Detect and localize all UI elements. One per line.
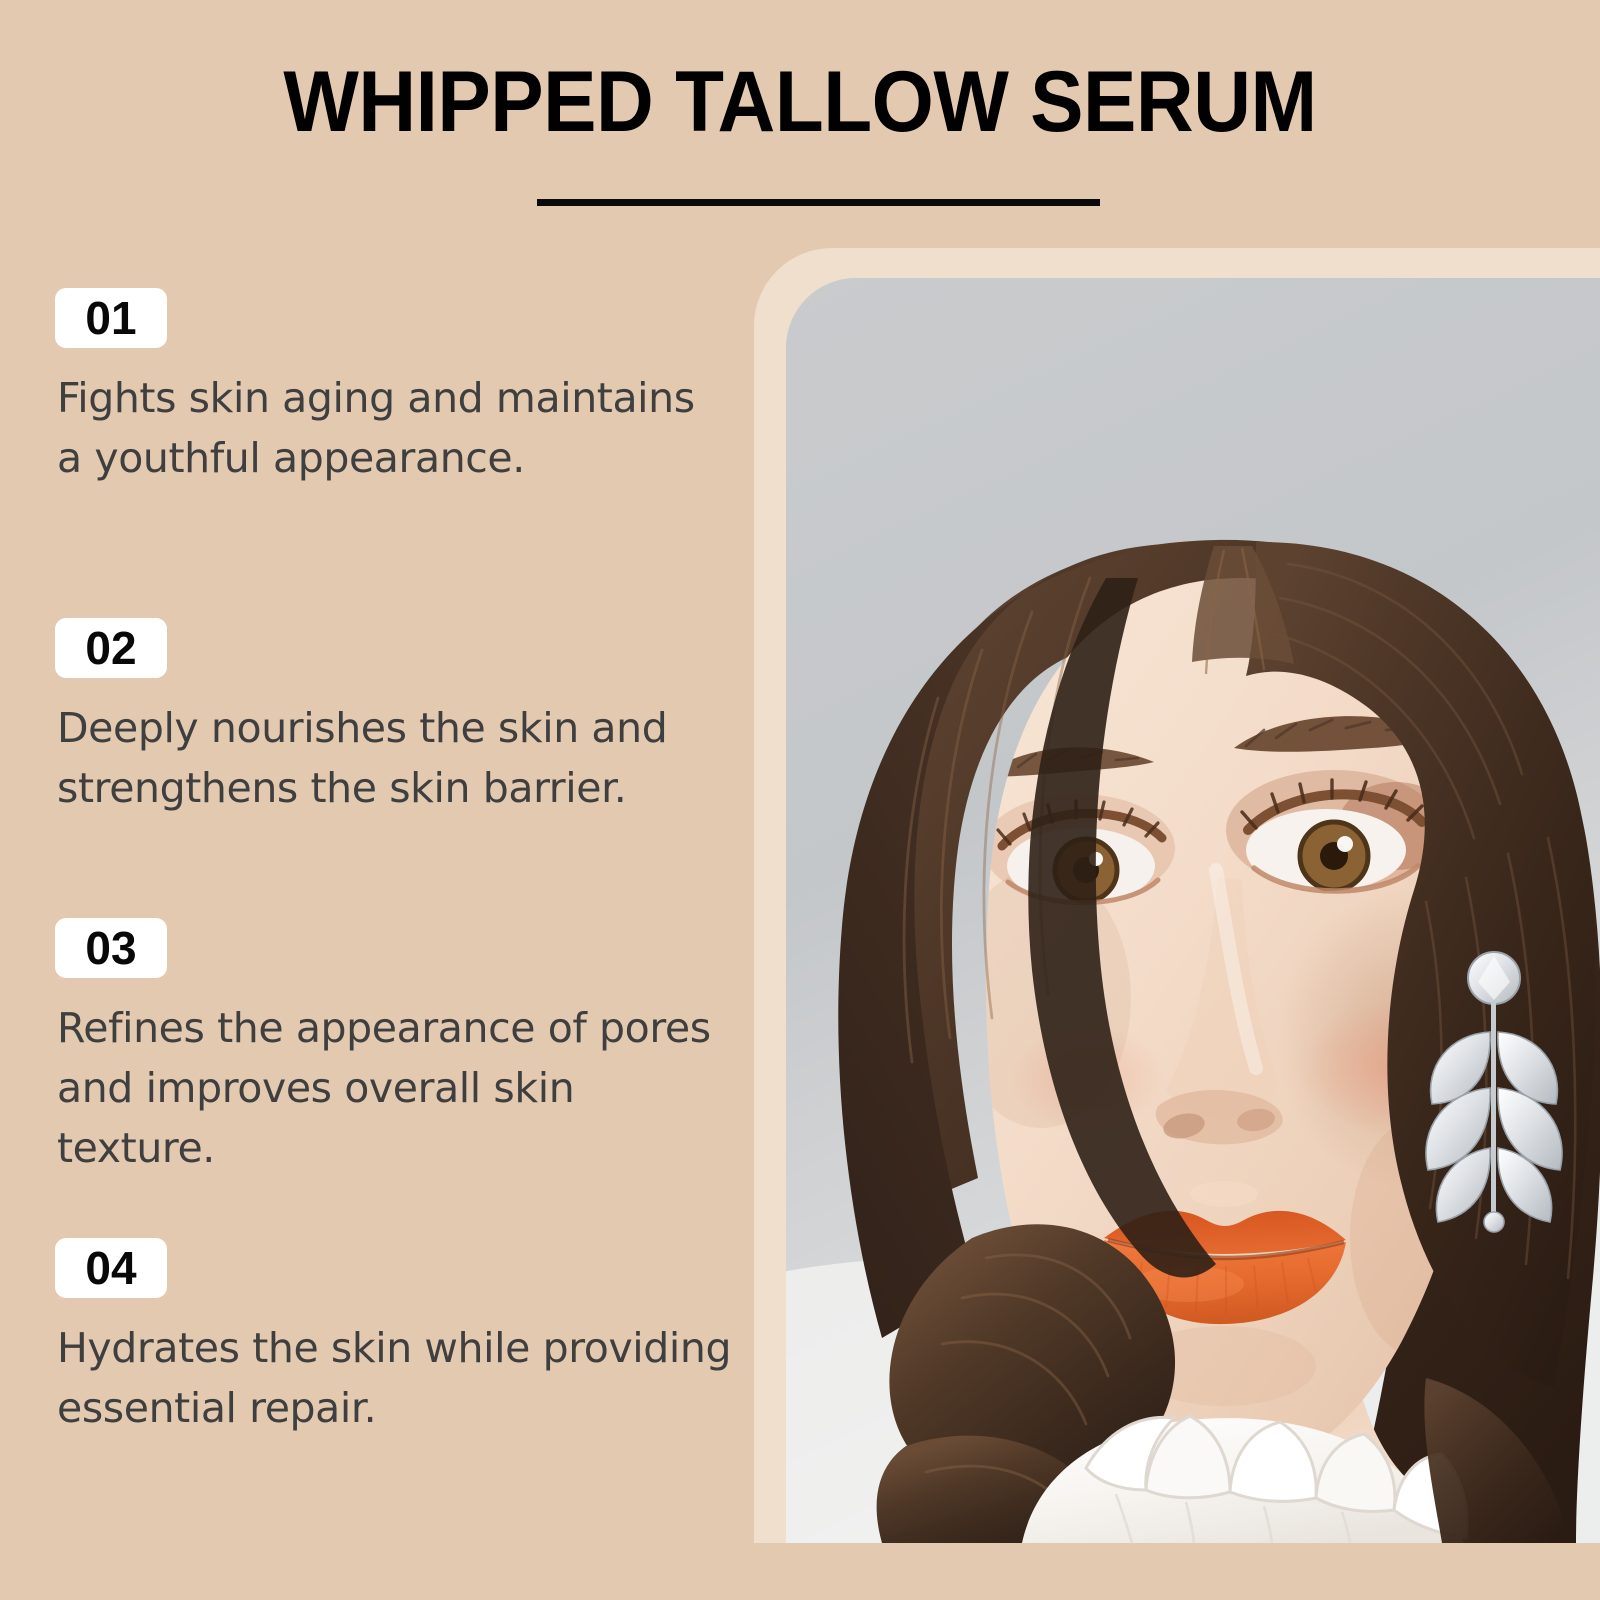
benefit-description: Hydrates the skin while providing essent…: [57, 1318, 747, 1438]
benefit-description: Fights skin aging and maintains a youthf…: [57, 368, 717, 488]
woman-portrait-illustration: [786, 278, 1600, 1543]
benefit-number-badge: 04: [55, 1238, 167, 1298]
benefit-description: Deeply nourishes the skin and strengthen…: [57, 698, 747, 818]
list-item: 04 Hydrates the skin while providing ess…: [0, 1238, 720, 1438]
title-divider: [537, 199, 1100, 206]
page-title: WHIPPED TALLOW SERUM: [56, 52, 1544, 152]
benefits-list: 01 Fights skin aging and maintains a you…: [0, 288, 740, 1568]
list-item: 01 Fights skin aging and maintains a you…: [0, 288, 720, 488]
benefit-number: 03: [55, 918, 167, 978]
model-photo: [786, 278, 1600, 1543]
benefit-number: 04: [55, 1238, 167, 1298]
list-item: 02 Deeply nourishes the skin and strengt…: [0, 618, 720, 818]
benefit-number-badge: 01: [55, 288, 167, 348]
benefit-number: 02: [55, 618, 167, 678]
poster-canvas: WHIPPED TALLOW SERUM 01 Fights skin agin…: [0, 0, 1600, 1600]
benefit-number-badge: 02: [55, 618, 167, 678]
benefit-number: 01: [55, 288, 167, 348]
list-item: 03 Refines the appearance of pores and i…: [0, 918, 720, 1178]
header: WHIPPED TALLOW SERUM: [0, 0, 1600, 240]
benefit-number-badge: 03: [55, 918, 167, 978]
benefit-description: Refines the appearance of pores and impr…: [57, 998, 717, 1178]
